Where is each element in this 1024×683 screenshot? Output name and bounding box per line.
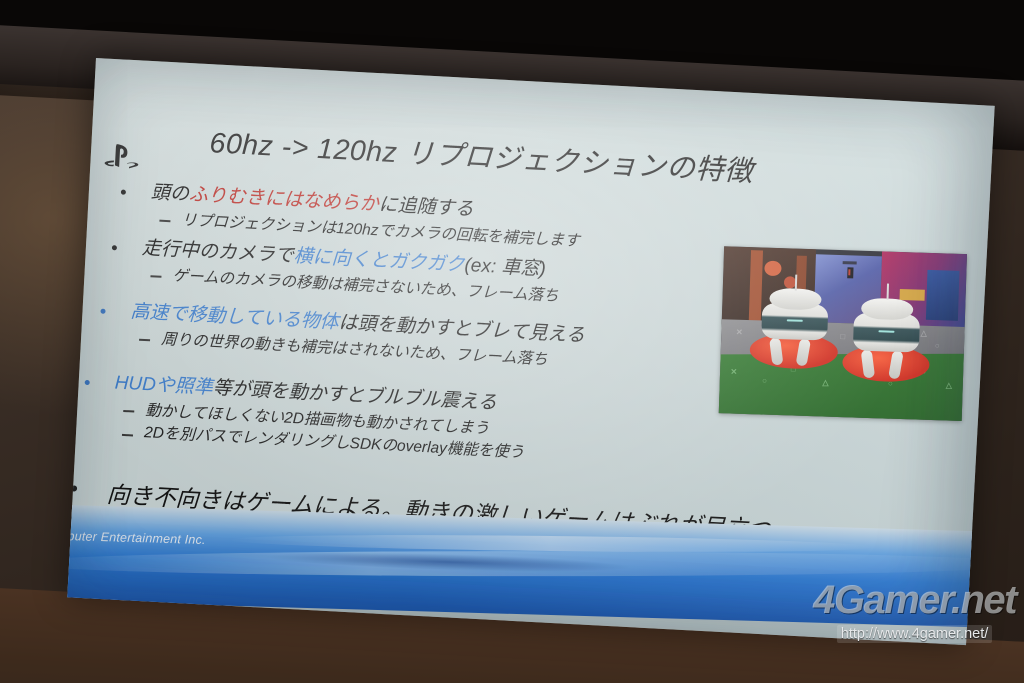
sub-bullet-marker-dash	[123, 410, 134, 413]
slide-title: 60hz -> 120hz リプロジェクションの特徴	[209, 120, 950, 200]
playstation-logo-icon	[104, 141, 140, 173]
bullet-marker-dot	[121, 190, 126, 195]
photograph-of-projected-slide: 60hz -> 120hz リプロジェクションの特徴 頭のふりむきにはなめらかに…	[0, 0, 1024, 683]
slide-photo-robots: ✕ ○ △ ✕ □ ○ ✕ △ ○ ✕ ✕ ○ □ △ ✕ ○	[719, 246, 967, 421]
photo-robot-left	[749, 287, 839, 370]
bullet-4-run-0: HUDや照準	[114, 372, 213, 398]
photo-screen-red-dot	[848, 270, 851, 276]
bullet-2-run-2: (ex: 車窓)	[464, 255, 546, 280]
bullet-1-run-1: ふりむきにはなめらか	[188, 184, 379, 215]
bullet-2-run-0: 走行中のカメラで	[141, 238, 294, 267]
sub-bullet-marker-dash	[122, 434, 133, 437]
bullet-marker-dot-blue	[100, 309, 105, 314]
bullet-group-4: HUDや照準等が頭を動かすとブルブル震える 動かしてほしくない2D描画物も動かさ…	[74, 369, 737, 474]
photo-robot-antenna	[887, 283, 890, 300]
photo-robot-right	[841, 297, 931, 383]
projection-screen: 60hz -> 120hz リプロジェクションの特徴 頭のふりむきにはなめらかに…	[67, 58, 994, 645]
sub-bullet-marker-dash	[150, 275, 161, 278]
watermark-logo: 4Gamer.net	[813, 580, 1016, 620]
watermark: 4Gamer.net http://www.4gamer.net/	[813, 580, 1016, 643]
watermark-url: http://www.4gamer.net/	[837, 625, 993, 643]
bullet-1-run-0: 頭の	[150, 182, 189, 205]
bullet-1-run-2: に追随する	[378, 194, 474, 220]
bullet-3-run-0: 高速で移動している物体	[130, 301, 339, 333]
slide-surface: 60hz -> 120hz リプロジェクションの特徴 頭のふりむきにはなめらかに…	[67, 58, 994, 645]
sub-bullet-marker-dash	[159, 220, 170, 223]
copyright-text: mputer Entertainment Inc.	[67, 529, 206, 547]
bullet-2-run-1: 横に向くとガクガク	[293, 246, 465, 276]
photo-screen-bar	[842, 261, 856, 264]
photo-robot-led	[787, 320, 803, 322]
sub-bullet-marker-dash	[139, 339, 150, 342]
bullet-marker-dot	[112, 245, 117, 250]
bullet-marker-dot-blue	[85, 380, 90, 385]
photo-robot-led	[879, 331, 895, 333]
